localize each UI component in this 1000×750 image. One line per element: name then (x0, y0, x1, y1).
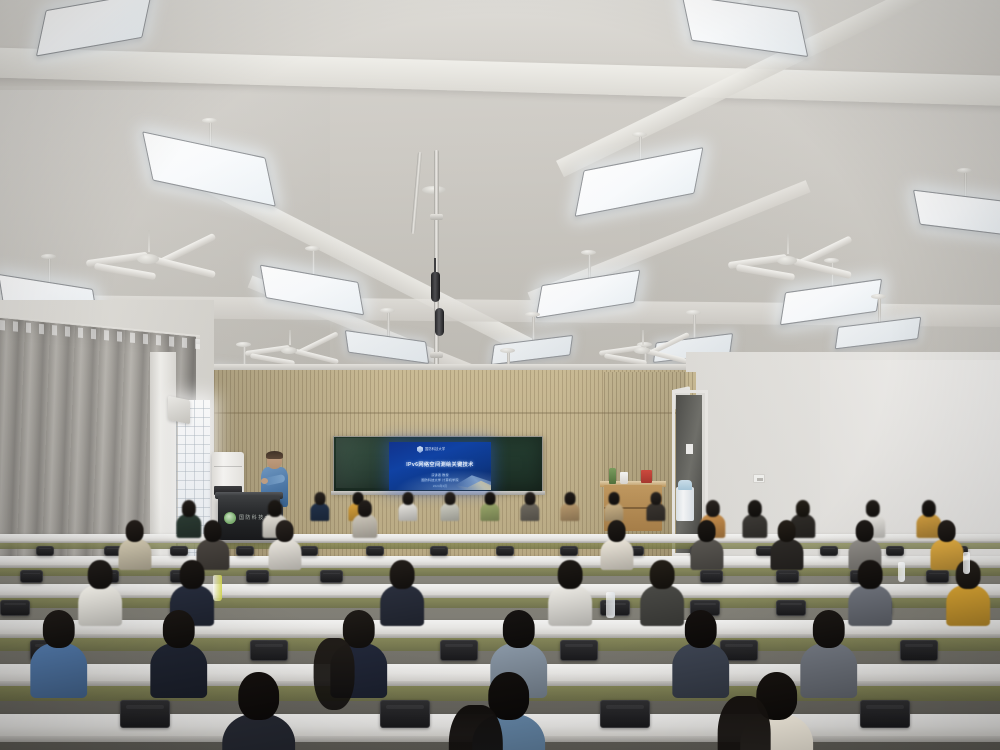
classroom-chair (236, 546, 254, 556)
person-head (88, 560, 113, 589)
projected-slide: 国防科技大学 IPv6网络空间测绘关键技术 演讲者 教授 国防科技大学 计算机学… (389, 442, 491, 490)
audience-member (440, 492, 459, 522)
person-head (564, 492, 575, 505)
classroom-chair (496, 546, 514, 556)
classroom-chair (366, 546, 384, 556)
chair-back-slot (126, 705, 164, 709)
classroom-chair (700, 570, 723, 583)
chair-back-slot (39, 548, 52, 549)
person-head (558, 560, 583, 589)
audience-member (150, 610, 208, 700)
slide-affiliation: 国防科技大学 计算机学院 (389, 477, 491, 482)
classroom-chair (886, 546, 904, 556)
light-ceiling-canopy (581, 250, 596, 255)
audience-member (548, 560, 592, 628)
chair-backrest (0, 600, 30, 616)
person-head (921, 500, 935, 517)
chair-back-slot (929, 573, 946, 575)
red-box-item (641, 470, 652, 483)
light-suspension-stem (532, 314, 535, 342)
classroom-chair (36, 546, 54, 556)
classroom-chair (430, 546, 448, 556)
chair-back-slot (563, 548, 576, 549)
person-torso (520, 503, 539, 521)
classroom-chair (560, 546, 578, 556)
chair-back-slot (703, 573, 720, 575)
light-ceiling-canopy (41, 254, 56, 259)
chair-backrest (320, 570, 343, 583)
chair-back-slot (433, 548, 446, 549)
person-head (858, 560, 883, 589)
chair-back-slot (23, 573, 40, 575)
classroom-photo-scene: 国防科技大学 IPv6网络空间测绘关键技术 演讲者 教授 国防科技大学 计算机学… (0, 0, 1000, 750)
person-torso (398, 503, 417, 521)
chair-back-slot (323, 573, 340, 575)
person-torso (548, 585, 592, 627)
person-torso (646, 503, 665, 521)
person-head (484, 492, 495, 505)
audience-member (352, 500, 377, 540)
chair-back-slot (694, 603, 716, 605)
person-head (203, 520, 222, 542)
light-ceiling-canopy (500, 348, 515, 353)
person-head (444, 492, 455, 505)
classroom-chair (600, 700, 650, 728)
ceiling-fan-icon (730, 252, 844, 290)
person-head (777, 520, 796, 542)
light-suspension-stem (209, 120, 212, 148)
chair-back-slot (499, 548, 512, 549)
audience-member (480, 492, 499, 522)
light-ceiling-canopy (305, 246, 320, 251)
person-head (275, 520, 294, 542)
light-ceiling-canopy (525, 312, 540, 317)
chair-back-slot (445, 644, 474, 647)
hanging-microphone-secondary-icon (434, 300, 445, 338)
wood-paneling-rail (214, 412, 686, 414)
pole-joint-lower (430, 352, 443, 358)
chair-back-slot (303, 548, 316, 549)
classroom-chair (440, 640, 478, 661)
person-long-hair (314, 638, 355, 710)
audience-member (30, 610, 88, 700)
white-cup (620, 472, 628, 484)
slide-title: IPv6网络空间测绘关键技术 (389, 461, 491, 468)
chair-back-slot (4, 603, 26, 605)
fan-hub (634, 347, 649, 354)
person-torso (310, 503, 329, 521)
audience-member (604, 492, 623, 522)
person-head (813, 610, 846, 648)
person-head (402, 492, 413, 505)
chair-back-slot (386, 705, 424, 709)
fan-blade (646, 349, 689, 364)
slide-date: 2024年3月 (389, 484, 491, 488)
water-dispenser-bottle (678, 480, 692, 490)
classroom-chair (250, 640, 288, 661)
person-head (855, 520, 874, 542)
light-suspension-stem (964, 170, 967, 198)
person-head (163, 610, 196, 648)
chair-backrest (120, 700, 170, 728)
person-head (650, 560, 675, 589)
light-ceiling-canopy (202, 118, 217, 123)
chair-backrest (36, 546, 54, 556)
audience-member (600, 520, 633, 572)
chair-backrest (560, 546, 578, 556)
water-bottle (963, 552, 970, 574)
chair-back-slot (866, 705, 904, 709)
green-bottle (609, 468, 616, 484)
water-bottle (898, 562, 905, 582)
classroom-chair (0, 600, 30, 616)
person-head (357, 500, 371, 517)
audience-member (398, 492, 417, 522)
light-ceiling-canopy (686, 310, 701, 315)
chair-backrest (430, 546, 448, 556)
classroom-chair (170, 546, 188, 556)
classroom-chair (300, 546, 318, 556)
person-torso (480, 503, 499, 521)
audience-member (742, 500, 767, 540)
fan-blade (736, 264, 795, 281)
person-torso (946, 585, 990, 627)
person-head (238, 672, 280, 720)
light-suspension-stem (693, 312, 696, 340)
audience-member (268, 520, 301, 572)
slide-logo-text: 国防科技大学 (425, 448, 445, 451)
light-suspension-stem (639, 134, 642, 162)
chair-back-slot (565, 644, 594, 647)
shield-icon (417, 446, 423, 453)
chair-back-slot (779, 573, 796, 575)
person-head (503, 610, 536, 648)
classroom-chair (776, 570, 799, 583)
chair-backrest (560, 640, 598, 661)
person-head (180, 560, 205, 589)
chair-backrest (900, 640, 938, 661)
chair-backrest (440, 640, 478, 661)
light-ceiling-canopy (957, 168, 972, 173)
classroom-chair (860, 700, 910, 728)
chair-backrest (860, 700, 910, 728)
chair-backrest (246, 570, 269, 583)
door-notice-paper (686, 444, 693, 454)
person-head (865, 500, 879, 517)
chair-backrest (250, 640, 288, 661)
chair-back-slot (369, 548, 382, 549)
light-suspension-stem (312, 248, 315, 276)
person-long-hair (718, 696, 771, 750)
chair-back-slot (249, 573, 266, 575)
person-head (524, 492, 535, 505)
chair-back-slot (606, 705, 644, 709)
chair-backrest (886, 546, 904, 556)
audience-member (690, 520, 723, 572)
light-suspension-stem (588, 252, 591, 280)
chair-back-slot (239, 548, 252, 549)
light-ceiling-canopy (632, 132, 647, 137)
person-torso (770, 539, 803, 571)
fan-blade (94, 263, 156, 281)
chair-back-slot (905, 644, 934, 647)
chair-backrest (366, 546, 384, 556)
light-suspension-stem (48, 256, 51, 284)
chair-back-slot (255, 644, 284, 647)
person-torso (440, 503, 459, 521)
person-torso (268, 539, 301, 571)
wall-outlet-icon (753, 474, 765, 483)
audience-member (222, 672, 296, 750)
wood-paneling-top-trim (214, 364, 686, 370)
chair-backrest (776, 570, 799, 583)
chair-backrest (700, 570, 723, 583)
ceiling-fan-icon (88, 250, 208, 290)
audience-member (646, 492, 665, 522)
water-dispenser (676, 487, 694, 521)
water-bottle (606, 592, 615, 618)
person-head (685, 610, 718, 648)
chair-back-slot (889, 548, 902, 549)
chair-backrest (300, 546, 318, 556)
person-head (650, 492, 661, 505)
person-head (608, 492, 619, 505)
classroom-chair (560, 640, 598, 661)
fan-blade (793, 258, 852, 279)
classroom-chair (20, 570, 43, 583)
person-head (314, 492, 325, 505)
slide-institution-logo: 国防科技大学 (417, 446, 447, 453)
person-head (747, 500, 761, 517)
air-conditioner-seam (214, 466, 242, 467)
light-ceiling-canopy (380, 308, 395, 313)
chair-back-slot (780, 603, 802, 605)
audience-member (520, 492, 539, 522)
person-head (705, 500, 719, 517)
classroom-chair (246, 570, 269, 583)
person-torso (30, 643, 88, 698)
classroom-chair (820, 546, 838, 556)
chair-backrest (496, 546, 514, 556)
classroom-chair (900, 640, 938, 661)
chair-backrest (820, 546, 838, 556)
light-ceiling-canopy (871, 294, 886, 299)
chair-backrest (236, 546, 254, 556)
hanging-microphone-icon (429, 258, 441, 302)
person-head (390, 560, 415, 589)
chair-backrest (20, 570, 43, 583)
person-torso (672, 643, 730, 698)
person-torso (604, 503, 623, 521)
audience-member (310, 492, 329, 522)
person-torso (560, 503, 579, 521)
person-head (937, 520, 956, 542)
person-torso (690, 539, 723, 571)
audience-member (560, 492, 579, 522)
classroom-chair (120, 700, 170, 728)
person-torso (352, 514, 377, 538)
chair-back-slot (823, 548, 836, 549)
audience-member (118, 520, 151, 572)
chair-back-slot (173, 548, 186, 549)
person-head (697, 520, 716, 542)
fan-blade (294, 349, 339, 365)
chair-backrest (380, 700, 430, 728)
audience-member (770, 520, 803, 572)
person-torso (118, 539, 151, 571)
person-head (43, 610, 76, 648)
light-suspension-stem (387, 310, 390, 338)
person-torso (600, 539, 633, 571)
classroom-chair (380, 700, 430, 728)
person-torso (150, 643, 208, 698)
chair-backrest (170, 546, 188, 556)
person-head (125, 520, 144, 542)
classroom-chair (320, 570, 343, 583)
pole-joint-upper (430, 214, 443, 220)
light-suspension-stem (878, 296, 881, 324)
person-head (181, 500, 195, 517)
wall-speaker-icon (168, 396, 190, 425)
person-torso (742, 514, 767, 538)
audience-member (672, 610, 730, 700)
person-head (267, 500, 281, 517)
person-head (607, 520, 626, 542)
chair-backrest (600, 700, 650, 728)
fan-hub (137, 254, 159, 264)
water-bottle (213, 575, 222, 601)
fan-blade (154, 257, 216, 279)
person-head (795, 500, 809, 517)
